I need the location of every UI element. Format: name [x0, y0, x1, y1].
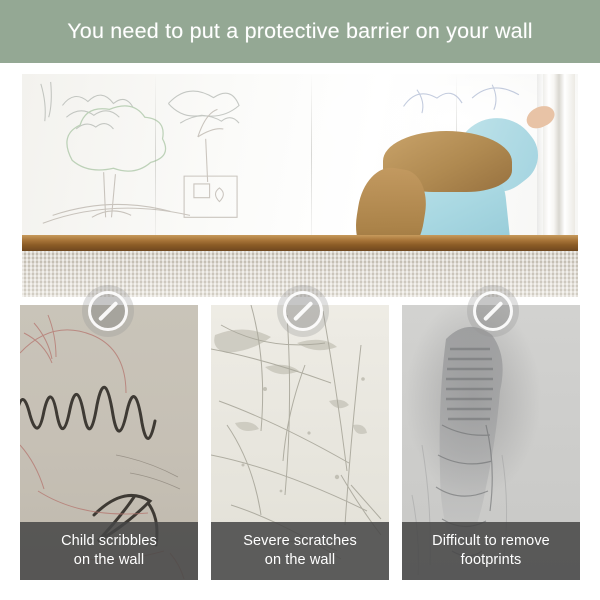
promo-banner: You need to put a protective barrier on … [0, 0, 600, 600]
wood-baseboard [22, 235, 578, 252]
panel-caption-text: Difficult to remove footprints [432, 532, 550, 570]
prohibition-icon [88, 291, 128, 331]
panel-caption: Child scribbles on the wall [20, 522, 198, 580]
page-title: You need to put a protective barrier on … [67, 19, 533, 44]
panel-caption-text: Severe scratches on the wall [243, 532, 357, 570]
panel-caption: Difficult to remove footprints [402, 522, 580, 580]
crayon-drawings [33, 78, 367, 225]
panel-severe-scratches: Severe scratches on the wall [211, 305, 389, 580]
panel-child-scribbles: Child scribbles on the wall [20, 305, 198, 580]
prohibition-icon [473, 291, 513, 331]
prohibition-icon [283, 291, 323, 331]
panel-caption-text: Child scribbles on the wall [61, 532, 157, 570]
problem-panels: Child scribbles on the wall [0, 305, 600, 580]
header-band: You need to put a protective barrier on … [0, 0, 600, 63]
hero-photo [22, 74, 578, 297]
panel-footprints: Difficult to remove footprints [402, 305, 580, 580]
panel-caption: Severe scratches on the wall [211, 522, 389, 580]
